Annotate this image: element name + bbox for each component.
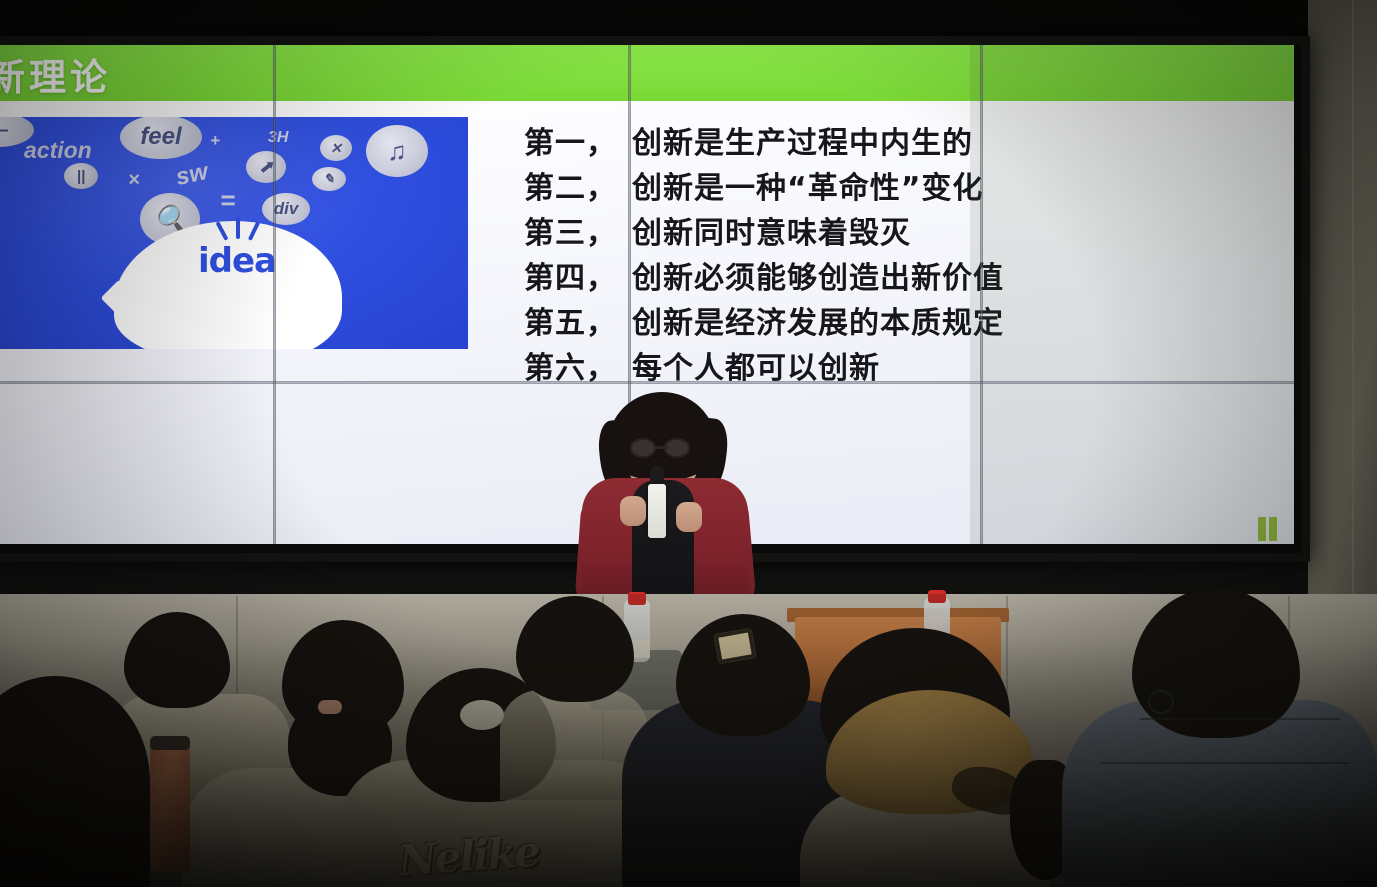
glasses-icon bbox=[1148, 690, 1174, 714]
presenter-hand-right bbox=[676, 502, 702, 532]
glasses-icon bbox=[630, 438, 656, 458]
glasses-bridge bbox=[656, 446, 668, 449]
denim-seam bbox=[1100, 762, 1350, 764]
hair-scrunchie bbox=[460, 700, 504, 730]
denim-seam bbox=[1140, 718, 1340, 720]
presenter bbox=[560, 392, 770, 607]
microphone-head bbox=[650, 466, 664, 486]
presenter-hand-left bbox=[620, 496, 646, 526]
bottle-cap bbox=[628, 592, 646, 605]
wall-seam bbox=[1352, 0, 1354, 600]
thermos-cap bbox=[150, 736, 190, 750]
lecture-hall-photo: 新理论 — action || × feel + sw = 3H ⬈ ✕ ✎ ♫… bbox=[0, 0, 1377, 887]
hair-tie bbox=[318, 700, 342, 714]
bottle-cap bbox=[928, 590, 946, 603]
microphone-icon bbox=[648, 484, 666, 538]
thermos-flask bbox=[150, 742, 190, 872]
right-wall bbox=[1308, 0, 1377, 600]
